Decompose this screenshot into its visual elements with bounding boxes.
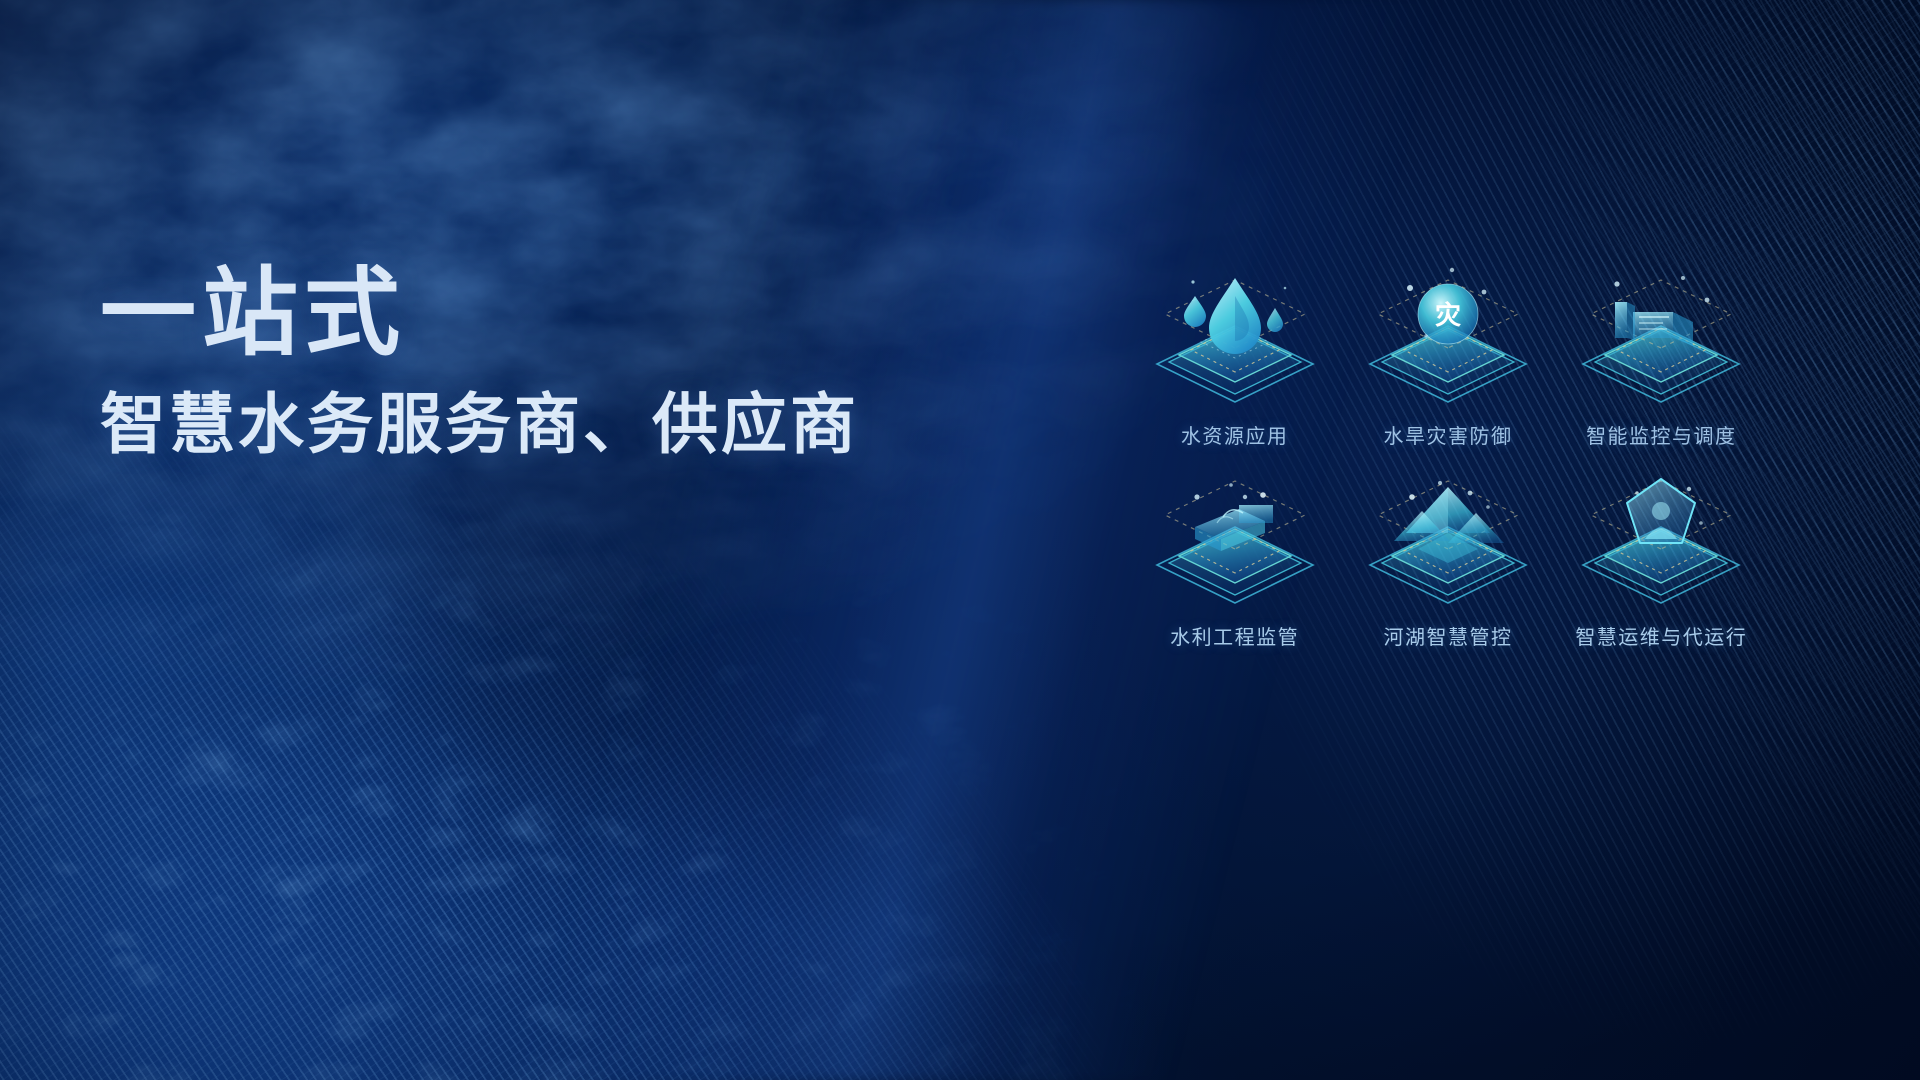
capability-item-flood-drought-defense[interactable]: 灾 水旱灾害防御 <box>1341 252 1554 449</box>
river-mountain-icon <box>1348 453 1548 629</box>
capability-item-smart-monitor-dispatch[interactable]: 智能监控与调度 <box>1555 252 1768 449</box>
capability-grid: 水资源应用 灾 <box>1128 252 1768 650</box>
disaster-badge-character: 灾 <box>1435 300 1461 330</box>
capability-item-smart-ops-agency[interactable]: 智慧运维与代运行 <box>1555 453 1768 650</box>
capability-item-river-lake-control[interactable]: 河湖智慧管控 <box>1341 453 1554 650</box>
water-droplet-icon <box>1135 252 1335 428</box>
dam-facility-icon <box>1135 453 1335 629</box>
disaster-sphere-icon: 灾 <box>1348 252 1548 428</box>
monitor-dispatch-icon <box>1561 252 1761 428</box>
shield-person-icon <box>1561 453 1761 629</box>
headline-block: 一站式 智慧水务服务商、供应商 <box>100 262 859 462</box>
headline-primary: 一站式 <box>100 262 859 366</box>
slide-canvas: 一站式 智慧水务服务商、供应商 <box>0 0 1920 1080</box>
capability-item-water-project-supervision[interactable]: 水利工程监管 <box>1128 453 1341 650</box>
headline-secondary: 智慧水务服务商、供应商 <box>100 388 859 462</box>
capability-item-water-resource[interactable]: 水资源应用 <box>1128 252 1341 449</box>
